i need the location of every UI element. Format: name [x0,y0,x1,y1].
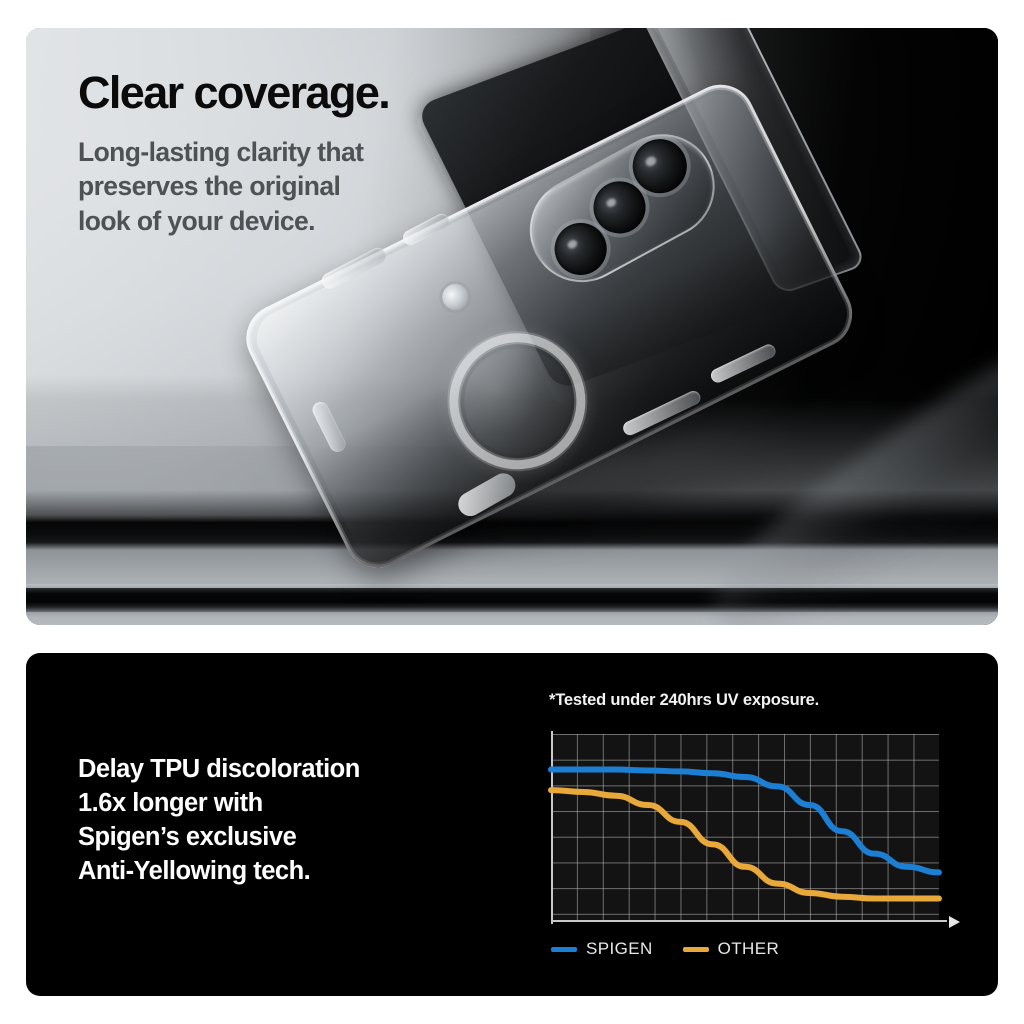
chart-legend: SPIGEN OTHER [551,939,779,959]
chart-line-spigen [551,770,939,873]
bottom-panel-copy: Delay TPU discoloration 1.6x longer with… [78,753,478,889]
bottom-feature-panel: Delay TPU discoloration 1.6x longer with… [26,653,998,996]
chart-title: *Tested under 240hrs UV exposure. [549,691,819,710]
top-panel-subtitle: Long-lasting clarity that preserves the … [78,135,508,238]
legend-label-other: OTHER [718,939,780,959]
chart-line-other [551,790,939,898]
legend-swatch-spigen [551,947,577,952]
uv-exposure-chart: *Tested under 240hrs UV exposure. SPIGEN [511,691,951,966]
legend-label-spigen: SPIGEN [586,939,653,959]
legend-item-spigen: SPIGEN [551,939,653,959]
top-feature-panel: Clear coverage. Long-lasting clarity tha… [26,28,998,625]
arrow-right-icon [949,916,960,928]
legend-item-other: OTHER [683,939,780,959]
page-title: Clear coverage. [78,70,508,115]
legend-swatch-other [683,947,709,952]
top-panel-copy: Clear coverage. Long-lasting clarity tha… [78,70,508,238]
chart-series-lines [551,734,939,921]
product-feature-page: Clear coverage. Long-lasting clarity tha… [0,0,1024,1024]
chart-plot-area [551,734,939,921]
